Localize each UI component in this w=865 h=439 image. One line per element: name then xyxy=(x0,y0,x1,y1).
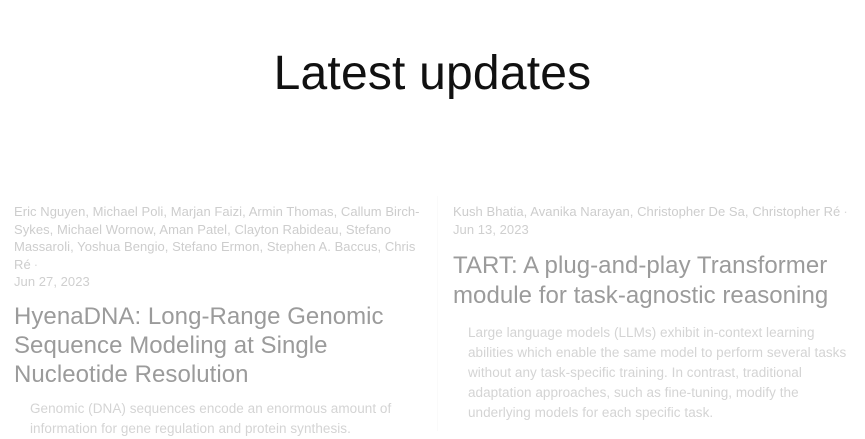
page-title: Latest updates xyxy=(0,46,865,102)
article-date: Jun 27, 2023 xyxy=(14,273,429,291)
article-date: Jun 13, 2023 xyxy=(453,221,855,239)
article-abstract: Large language models (LLMs) exhibit in-… xyxy=(468,323,855,423)
article-title[interactable]: HyenaDNA: Long-Range Genomic Sequence Mo… xyxy=(14,302,429,389)
article-authors-text: Eric Nguyen, Michael Poli, Marjan Faizi,… xyxy=(14,204,420,272)
latest-updates-page: Latest updates Eric Nguyen, Michael Poli… xyxy=(0,0,865,431)
article-title[interactable]: TART: A plug-and-play Transformer module… xyxy=(453,251,855,311)
article-abstract: Genomic (DNA) sequences encode an enormo… xyxy=(30,399,429,439)
article-authors: Eric Nguyen, Michael Poli, Marjan Faizi,… xyxy=(14,203,429,273)
author-separator-dot: · xyxy=(840,204,847,219)
article-authors-text: Kush Bhatia, Avanika Narayan, Christophe… xyxy=(453,204,840,219)
article-card[interactable]: Kush Bhatia, Avanika Narayan, Christophe… xyxy=(453,196,855,423)
updates-column-left: Eric Nguyen, Michael Poli, Marjan Faizi,… xyxy=(0,196,437,431)
article-authors: Kush Bhatia, Avanika Narayan, Christophe… xyxy=(453,203,855,221)
author-separator-dot: · xyxy=(31,257,38,272)
updates-column-right: Kush Bhatia, Avanika Narayan, Christophe… xyxy=(437,196,865,431)
updates-columns: Eric Nguyen, Michael Poli, Marjan Faizi,… xyxy=(0,196,865,431)
article-card[interactable]: Eric Nguyen, Michael Poli, Marjan Faizi,… xyxy=(14,196,429,439)
